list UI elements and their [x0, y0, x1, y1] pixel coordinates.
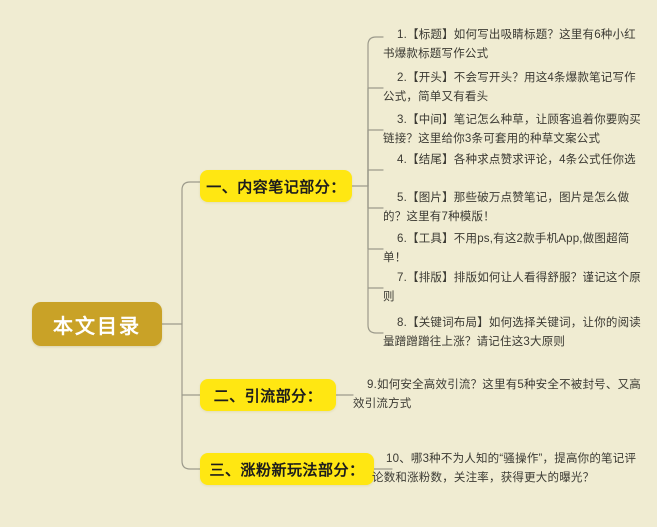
- connector-branch1-leaf5: [368, 186, 383, 208]
- mindmap-canvas: 本文目录 一、内容笔记部分： 二、引流部分： 三、涨粉新玩法部分： 1.【标题】…: [0, 0, 657, 527]
- root-node[interactable]: 本文目录: [32, 302, 162, 346]
- leaf-item-7[interactable]: 7.【排版】排版如何让人看得舒服？谨记这个原则: [383, 269, 645, 307]
- connector-root-spine: [182, 182, 200, 324]
- leaf-item-5[interactable]: 5.【图片】那些破万点赞笔记，图片是怎么做的？这里有7种模版！: [383, 189, 645, 227]
- leaf-item-10[interactable]: 10、哪3种不为人知的“骚操作”，提高你的笔记评论数和涨粉数，关注率，获得更大的…: [372, 450, 644, 488]
- connector-branch1-spine: [368, 37, 383, 186]
- connector-root-to-branch3: [182, 395, 200, 469]
- leaf-item-1[interactable]: 1.【标题】如何写出吸睛标题？这里有6种小红书爆款标题写作公式: [383, 26, 645, 64]
- branch-node-traffic[interactable]: 二、引流部分：: [200, 379, 336, 411]
- leaf-item-2[interactable]: 2.【开头】不会写开头？用这4条爆款笔记写作公式，简单又有看头: [383, 69, 645, 107]
- connector-branch1-leaf8: [368, 288, 383, 333]
- connector-branch1-leaf7: [368, 186, 383, 288]
- leaf-item-4[interactable]: 4.【结尾】各种求点赞求评论，4条公式任你选: [383, 151, 645, 170]
- branch-node-content-notes[interactable]: 一、内容笔记部分：: [200, 170, 352, 202]
- connector-branch1-leaf2: [368, 88, 383, 186]
- leaf-item-6[interactable]: 6.【工具】不用ps,有这2款手机App,做图超简单！: [383, 230, 645, 268]
- leaf-item-8[interactable]: 8.【关键词布局】如何选择关键词，让你的阅读量蹭蹭蹭往上涨？请记住这3大原则: [383, 314, 645, 352]
- connector-root-to-branch2: [182, 324, 200, 395]
- leaf-item-9[interactable]: 9.如何安全高效引流？这里有5种安全不被封号、又高效引流方式: [353, 376, 645, 414]
- connector-branch1-leaf6: [368, 186, 383, 249]
- branch-node-follower-growth[interactable]: 三、涨粉新玩法部分：: [200, 453, 374, 485]
- connector-branch1-leaf4: [368, 170, 383, 186]
- leaf-item-3[interactable]: 3.【中间】笔记怎么种草，让顾客追着你要购买链接？这里给你3条可套用的种草文案公…: [383, 111, 645, 149]
- connector-branch1-leaf3: [368, 130, 383, 186]
